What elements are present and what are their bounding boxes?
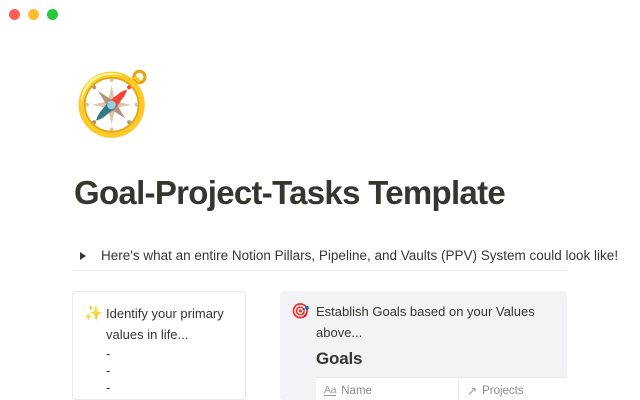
table-column-label: Projects (482, 385, 524, 397)
notion-page: 🧭 Goal-Project-Tasks Template Here's wha… (0, 28, 640, 400)
app-window: 🧭 Goal-Project-Tasks Template Here's wha… (0, 0, 640, 400)
horizontal-divider (72, 270, 567, 271)
list-item[interactable]: - (106, 379, 233, 396)
database-title[interactable]: Goals (316, 348, 567, 370)
table-column-header-name[interactable]: Aa Name (316, 378, 459, 400)
table-header-row: Aa Name ↗ Projects (316, 378, 567, 400)
sparkles-emoji: ✨ (84, 304, 106, 399)
relation-property-icon: ↗ (467, 385, 477, 397)
list-item[interactable]: - (106, 345, 233, 362)
toggle-block[interactable]: Here's what an entire Notion Pillars, Pi… (74, 244, 574, 268)
text-property-icon: Aa (324, 385, 336, 397)
close-window-button[interactable] (9, 9, 20, 20)
values-callout-card[interactable]: ✨ Identify your primary values in life..… (72, 291, 246, 400)
goals-database-table: Aa Name ↗ Projects (316, 377, 567, 400)
table-column-header-projects[interactable]: ↗ Projects (459, 378, 567, 400)
compass-emoji[interactable]: 🧭 (74, 74, 151, 136)
table-column-label: Name (341, 385, 372, 397)
minimize-window-button[interactable] (28, 9, 39, 20)
caret-right-icon[interactable] (74, 247, 92, 265)
column-left: ✨ Identify your primary values in life..… (72, 291, 246, 400)
window-titlebar (0, 0, 640, 28)
toggle-label: Here's what an entire Notion Pillars, Pi… (101, 246, 618, 266)
goals-callout-text: Establish Goals based on your Values abo… (316, 302, 567, 343)
column-spacer (246, 291, 280, 400)
maximize-window-button[interactable] (47, 9, 58, 20)
values-callout-text: Identify your primary values in life... (106, 304, 233, 345)
column-right: 🎯 Establish Goals based on your Values a… (280, 291, 567, 400)
dart-emoji: 🎯 (291, 302, 316, 343)
values-callout-body: Identify your primary values in life... … (106, 304, 233, 399)
goals-callout-card[interactable]: 🎯 Establish Goals based on your Values a… (280, 291, 567, 400)
goals-callout-header: 🎯 Establish Goals based on your Values a… (291, 302, 567, 343)
list-item[interactable]: - (106, 362, 233, 379)
page-title[interactable]: Goal-Project-Tasks Template (74, 173, 574, 213)
column-list: ✨ Identify your primary values in life..… (72, 291, 567, 400)
window-controls (9, 9, 58, 20)
